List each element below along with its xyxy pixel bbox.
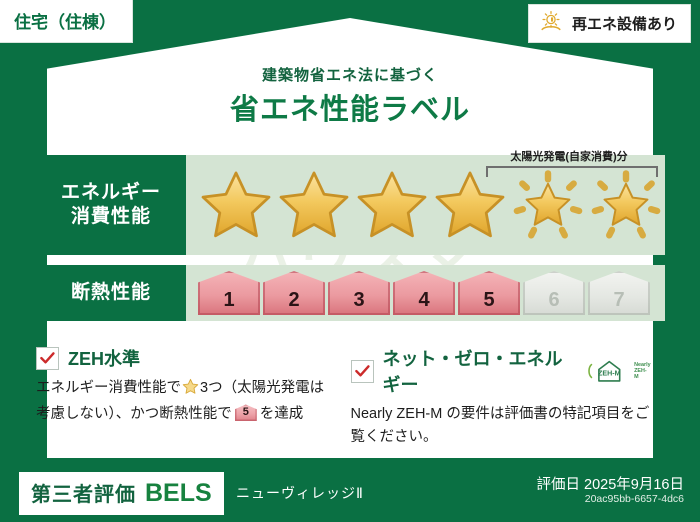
insulation-level-scale: 1234567: [186, 271, 650, 315]
energy-performance-label: ハウスマ 住宅（住棟） 再エネ設備あり 建築物省エネ法に基づく 省エネ性能ラベル…: [0, 0, 700, 522]
insulation-level-3: 3: [328, 271, 390, 315]
energy-performance-label-box: エネルギー 消費性能: [36, 155, 186, 255]
zeh-body-pre: エネルギー消費性能で: [36, 380, 181, 396]
evaluation-date: 評価日 2025年9月16日: [537, 473, 684, 494]
zeh-m-logo: ZEH-M Nearly ZEH-M: [587, 358, 651, 384]
zeh-m-cap-line2: ZEH-M: [634, 368, 647, 380]
star-sparkle-icon: [588, 167, 664, 243]
star-filled-icon: [198, 167, 274, 243]
certificate-id: 20ac95bb-6657-4dc6: [585, 493, 684, 505]
star-filled-icon: [276, 167, 352, 243]
sun-icon: [538, 10, 564, 37]
note-net-zero-energy: ネット・ゼロ・エネルギー ZEH-M Nearly ZEH-M Nearly Z…: [351, 345, 666, 450]
insulation-level-number: 4: [418, 289, 429, 312]
insulation-level-4: 4: [393, 271, 455, 315]
solar-annotation-text: 太陽光発電(自家消費)分: [474, 148, 664, 164]
inline-badge-number: 5: [235, 404, 257, 421]
label-subtitle: 建築物省エネ法に基づく: [0, 64, 700, 85]
nze-note-title: ネット・ゼロ・エネルギー: [383, 345, 574, 397]
star-filled-icon: [432, 167, 508, 243]
insulation-level-number: 1: [223, 289, 234, 312]
insulation-level-number: 5: [483, 289, 494, 312]
energy-label-line1: エネルギー: [61, 181, 161, 205]
insulation-level-number: 3: [353, 289, 364, 312]
zeh-note-header: ZEH水準: [36, 345, 337, 371]
renewable-chip-label: 再エネ設備あり: [572, 13, 677, 34]
nze-note-header: ネット・ゼロ・エネルギー ZEH-M Nearly ZEH-M: [351, 345, 652, 397]
insulation-level-number: 6: [548, 289, 559, 312]
star-sparkle-icon: [510, 167, 586, 243]
inline-star-icon: [182, 378, 199, 403]
third-party-eval-label: 第三者評価: [31, 478, 136, 507]
svg-text:ZEH-M: ZEH-M: [598, 369, 621, 377]
star-rating: [186, 167, 664, 243]
insulation-level-7: 7: [588, 271, 650, 315]
insulation-level-number: 7: [613, 289, 624, 312]
energy-label-line2: 消費性能: [71, 205, 151, 229]
nze-note-body: Nearly ZEH-M の要件は評価書の特記項目をご覧ください。: [351, 403, 652, 450]
insulation-level-1: 1: [198, 271, 260, 315]
checkbox-checked-icon: [351, 360, 374, 383]
renewable-equipment-chip: 再エネ設備あり: [529, 5, 690, 42]
zeh-m-cap-line1: Nearly: [634, 362, 650, 368]
solar-annotation-bracket: [486, 166, 658, 177]
note-zeh-standard: ZEH水準 エネルギー消費性能で3つ（太陽光発電は考慮しない）、かつ断熱性能で5…: [36, 345, 351, 450]
building-type-chip: 住宅（住棟）: [0, 0, 132, 42]
insulation-label: 断熱性能: [71, 281, 151, 305]
zeh-body-post: を達成: [260, 406, 304, 422]
project-name: ニューヴィレッジⅡ: [236, 483, 364, 503]
inline-insulation-badge: 5: [235, 404, 257, 421]
zeh-m-logo-caption: Nearly ZEH-M: [634, 362, 651, 381]
insulation-scale-area: 1234567: [186, 265, 665, 321]
insulation-performance-row: 断熱性能 1234567: [36, 265, 665, 321]
bels-chip: 第三者評価 BELS: [19, 472, 224, 515]
insulation-level-5: 5: [458, 271, 520, 315]
label-title: 省エネ性能ラベル: [0, 86, 700, 128]
zeh-note-body: エネルギー消費性能で3つ（太陽光発電は考慮しない）、かつ断熱性能で5を達成: [36, 377, 337, 427]
notes-section: ZEH水準 エネルギー消費性能で3つ（太陽光発電は考慮しない）、かつ断熱性能で5…: [36, 345, 665, 450]
footer-bar: 第三者評価 BELS ニューヴィレッジⅡ 評価日 2025年9月16日 20ac…: [0, 460, 700, 522]
checkbox-checked-icon: [36, 347, 59, 370]
insulation-level-2: 2: [263, 271, 325, 315]
insulation-level-number: 2: [288, 289, 299, 312]
insulation-level-6: 6: [523, 271, 585, 315]
insulation-performance-label-box: 断熱性能: [36, 265, 186, 321]
zeh-note-title: ZEH水準: [68, 345, 140, 371]
bels-brand: BELS: [145, 479, 212, 508]
star-filled-icon: [354, 167, 430, 243]
